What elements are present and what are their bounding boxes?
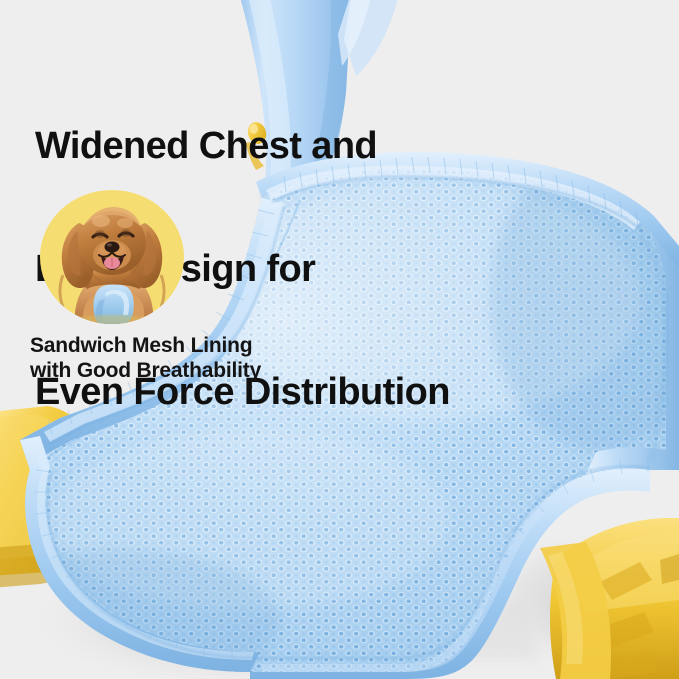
dog-nose xyxy=(105,242,120,253)
caption-line-1: Sandwich Mesh Lining xyxy=(30,333,261,358)
caption: Sandwich Mesh Lining with Good Breathabi… xyxy=(30,333,261,383)
headline-line-1: Widened Chest and xyxy=(35,126,450,167)
dog-photo-badge xyxy=(39,189,185,325)
product-image-canvas: Widened Chest and Back Design for Even F… xyxy=(0,0,679,679)
caption-line-2: with Good Breathability xyxy=(30,358,261,383)
